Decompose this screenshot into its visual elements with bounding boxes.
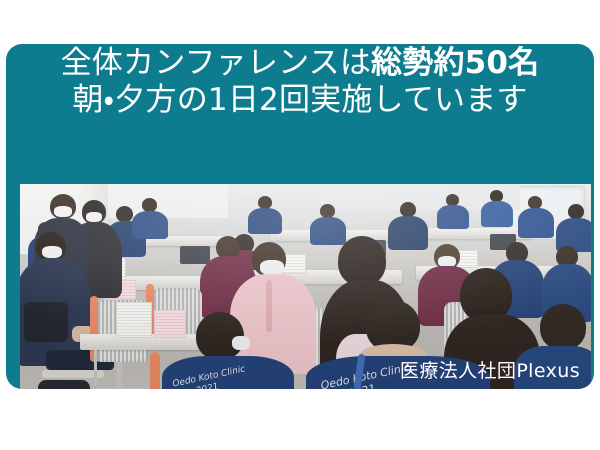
person-body [248, 208, 282, 234]
desk-leg [94, 350, 97, 386]
chair-post [116, 362, 122, 389]
chair-base [92, 388, 150, 389]
bag [24, 302, 68, 342]
person-head [116, 206, 133, 222]
person-head [568, 204, 584, 219]
organization-credit: 医療法人社団Plexus [400, 356, 580, 383]
person-body [388, 216, 428, 250]
chair-accent [150, 352, 160, 389]
face-mask [42, 246, 62, 258]
person-body [518, 208, 554, 238]
person-head [540, 304, 586, 350]
person-body [481, 201, 513, 227]
person-body [310, 217, 346, 245]
slide-root: Oedo Koto Clinic since 2021 Oedo Koto Cl… [0, 0, 600, 450]
face-mask [232, 336, 250, 350]
paper-pile-tall [116, 302, 152, 338]
face-mask [86, 212, 102, 222]
person-head [142, 198, 157, 212]
laptop [180, 246, 210, 264]
person-head [400, 202, 416, 217]
face-mask [54, 206, 72, 217]
paper-pile-pink [154, 310, 186, 338]
face-mask [260, 260, 284, 275]
lanyard [266, 280, 272, 332]
teal-card: Oedo Koto Clinic since 2021 Oedo Koto Cl… [6, 44, 594, 389]
person-head [320, 204, 335, 218]
person-body [132, 211, 168, 239]
bag [38, 380, 90, 389]
person-body [437, 205, 469, 229]
person-head [338, 236, 386, 286]
